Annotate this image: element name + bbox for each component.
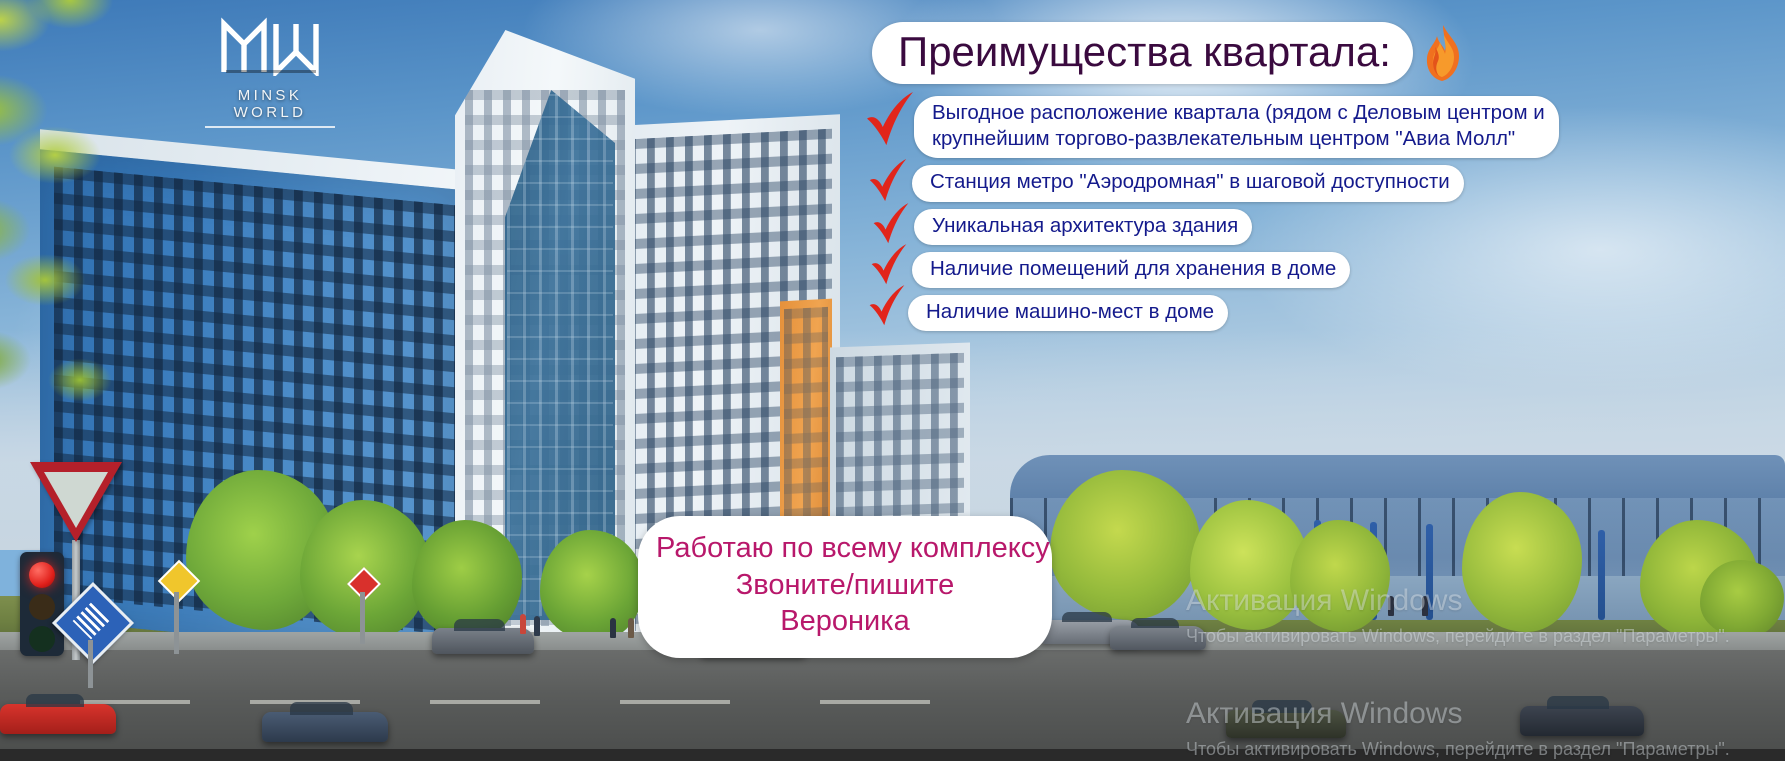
- contact-line-1: Работаю по всему комплексу: [656, 530, 1034, 567]
- tree: [1462, 492, 1582, 632]
- list-item: Наличие помещений для хранения в доме: [862, 252, 1582, 288]
- tree: [1190, 500, 1308, 630]
- red-checkmark-icon: [862, 92, 918, 150]
- road-marking: [430, 700, 540, 704]
- sign-pole: [174, 592, 179, 654]
- list-item-label: Станция метро "Аэродромная" в шаговой до…: [912, 165, 1464, 201]
- list-item-label: Наличие машино-мест в доме: [908, 295, 1228, 331]
- contact-line-2: Звоните/пишите: [656, 567, 1034, 604]
- red-checkmark-icon: [868, 244, 910, 288]
- yield-sign-inner: [44, 472, 108, 528]
- contact-line-3: Вероника: [656, 603, 1034, 640]
- car: [1226, 710, 1346, 738]
- car: [432, 628, 534, 654]
- pedestrian: [534, 616, 540, 636]
- traffic-light-red-lamp: [29, 562, 55, 588]
- car: [0, 704, 116, 734]
- tree: [1290, 520, 1390, 632]
- list-item: Станция метро "Аэродромная" в шаговой до…: [862, 165, 1582, 201]
- flame-icon: [1419, 23, 1465, 83]
- list-item: Выгодное расположение квартала (рядом с …: [862, 96, 1582, 158]
- tree: [1050, 470, 1200, 620]
- bottom-edge-bar: [0, 749, 1785, 761]
- list-item-label: Уникальная архитектура здания: [914, 209, 1252, 245]
- car: [1110, 626, 1206, 650]
- list-item-label: Выгодное расположение квартала (рядом с …: [914, 96, 1559, 158]
- pedestrian: [520, 614, 526, 634]
- minsk-world-logo: MINSK WORLD: [200, 14, 340, 128]
- benefits-list: Выгодное расположение квартала (рядом с …: [862, 96, 1582, 338]
- red-checkmark-icon: [870, 203, 912, 247]
- red-checkmark-icon: [866, 285, 908, 329]
- traffic-light-green-lamp: [29, 626, 55, 652]
- road-marking: [620, 700, 730, 704]
- tree: [1700, 560, 1784, 638]
- list-item-label: Наличие помещений для хранения в доме: [912, 252, 1350, 288]
- list-item: Наличие машино-мест в доме: [862, 295, 1582, 331]
- traffic-light-amber-lamp: [29, 594, 55, 620]
- car: [262, 712, 388, 742]
- foreground-tree-left: [0, 0, 210, 450]
- sign-pole: [88, 640, 93, 688]
- car: [1520, 706, 1644, 736]
- sign-pole: [360, 592, 365, 644]
- pedestrian: [1388, 596, 1394, 616]
- mw-monogram-icon: [218, 14, 322, 76]
- road: [0, 650, 1785, 761]
- contact-card: Работаю по всему комплексу Звоните/пишит…: [638, 516, 1052, 658]
- list-item: Уникальная архитектура здания: [862, 209, 1582, 245]
- headline-row: Преимущества квартала:: [872, 22, 1465, 84]
- pedestrian: [628, 618, 634, 638]
- pedestrian: [1422, 596, 1428, 616]
- pedestrian: [610, 618, 616, 638]
- logo-text: MINSK WORLD: [200, 87, 340, 121]
- road-marking: [820, 700, 930, 704]
- logo-divider: [205, 126, 335, 128]
- red-checkmark-icon: [866, 159, 910, 205]
- page-title: Преимущества квартала:: [872, 22, 1413, 84]
- flag-pole: [1598, 530, 1605, 620]
- promo-banner: y Planet P: [0, 0, 1785, 761]
